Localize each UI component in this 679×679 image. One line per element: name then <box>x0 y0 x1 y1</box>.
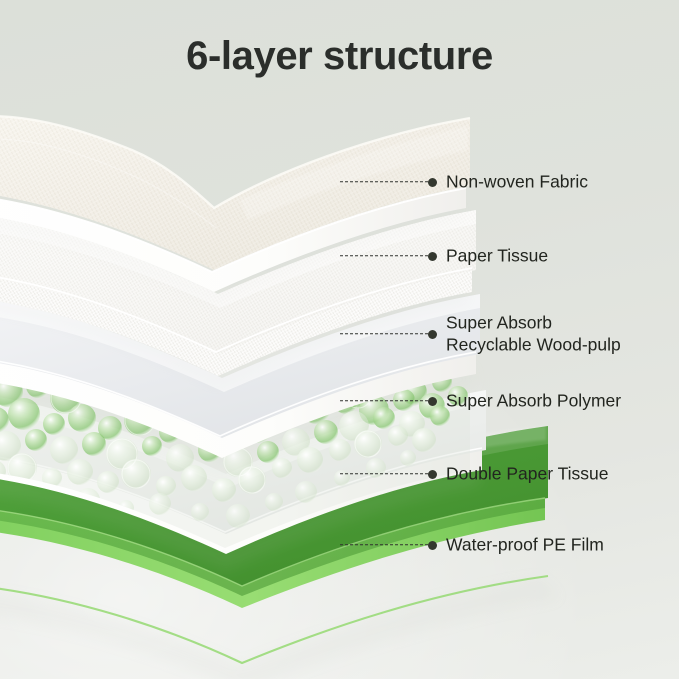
leader-dot-icon <box>428 397 437 406</box>
callout-label-water-proof-pe-film: Water-proof PE Film <box>446 534 604 556</box>
callout-label-double-paper-tissue: Double Paper Tissue <box>446 463 608 485</box>
leader-dot-icon <box>428 252 437 261</box>
leader-line-icon <box>340 181 428 182</box>
leader-line-icon <box>340 473 428 474</box>
leader-dot-icon <box>428 178 437 187</box>
infographic-canvas: 6-layer structure <box>0 0 679 679</box>
leader-line-icon <box>340 255 428 256</box>
leader-dot-icon <box>428 330 437 339</box>
callout-label-super-absorb-recyclable-wood-pulp: Super Absorb Recyclable Wood-pulp <box>446 313 621 356</box>
callout-label-non-woven-fabric: Non-woven Fabric <box>446 171 588 193</box>
callout-label-paper-tissue: Paper Tissue <box>446 245 548 267</box>
callout-label-super-absorb-polymer: Super Absorb Polymer <box>446 390 621 412</box>
leader-dot-icon <box>428 470 437 479</box>
leader-line-icon <box>340 400 428 401</box>
leader-dot-icon <box>428 541 437 550</box>
leader-line-icon <box>340 544 428 545</box>
leader-line-icon <box>340 333 428 334</box>
